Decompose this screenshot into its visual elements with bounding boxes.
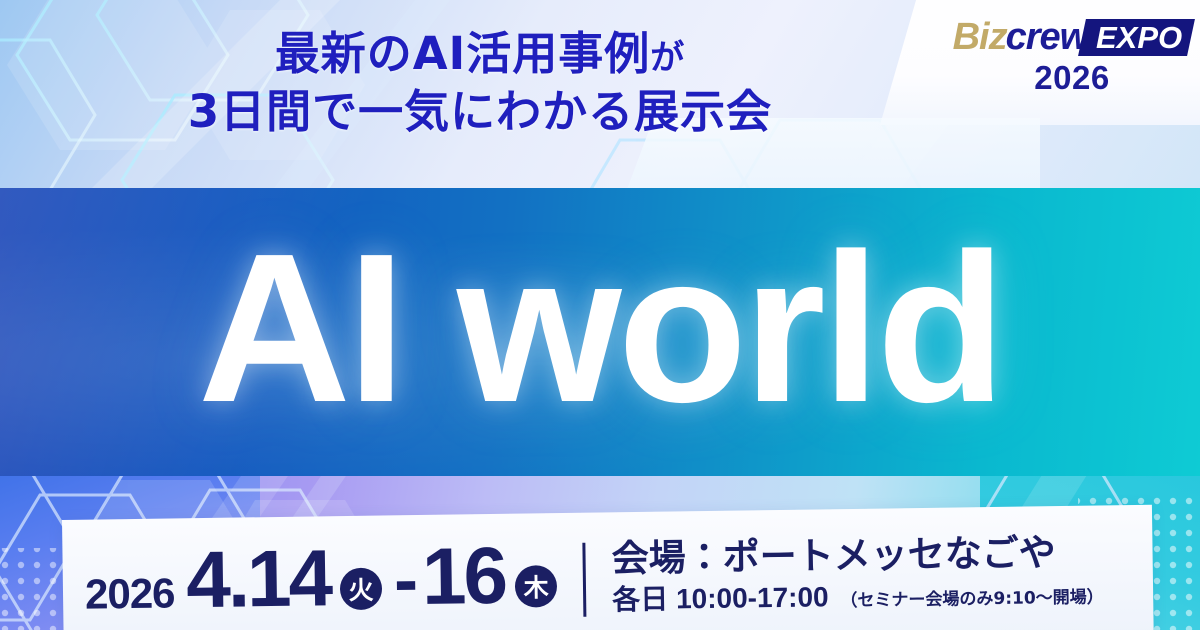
event-banner: Biz crew EXPO 2026 最新のAI活用事例が 3日間で一気にわかる… bbox=[0, 0, 1200, 630]
event-end-date: 16 bbox=[421, 538, 505, 615]
headline-line-2: 3日間で一気にわかる展示会 bbox=[0, 86, 960, 138]
venue-hours-note: （セミナー会場のみ9:10〜開場） bbox=[840, 587, 1104, 611]
headline-line-1-suffix: が bbox=[650, 38, 685, 78]
headline-line-1-main: 最新のAI活用事例 bbox=[275, 27, 651, 80]
logo-crew-text: crew bbox=[1006, 18, 1089, 56]
venue-hours-row: 各日 10:00-17:00 （セミナー会場のみ9:10〜開場） bbox=[612, 579, 1104, 614]
headline-line-1: 最新のAI活用事例が bbox=[0, 28, 960, 80]
venue-hours-value: 10:00-17:00 bbox=[676, 581, 829, 614]
logo-wordmark: Biz crew EXPO bbox=[962, 18, 1182, 56]
section-divider bbox=[582, 543, 586, 617]
event-end-dayofweek-badge: 木 bbox=[515, 565, 558, 608]
headline: 最新のAI活用事例が 3日間で一気にわかる展示会 bbox=[0, 28, 960, 138]
venue-info: 会場：ポートメッセなごや 各日 10:00-17:00 （セミナー会場のみ9:1… bbox=[611, 505, 1104, 614]
logo-year-text: 2026 bbox=[962, 59, 1182, 97]
main-title-text: AI world bbox=[0, 188, 1200, 476]
logo-expo-badge: EXPO bbox=[1078, 19, 1195, 56]
venue-name: 会場：ポートメッセなごや bbox=[611, 533, 1103, 579]
event-date: 2026 4.14 火 - 16 木 bbox=[62, 513, 558, 626]
event-date-dash: - bbox=[393, 539, 416, 621]
logo-biz-text: Biz bbox=[953, 18, 1007, 56]
event-start-dayofweek-badge: 火 bbox=[340, 568, 383, 611]
main-title-band: AI world bbox=[0, 188, 1200, 476]
bizcrew-expo-logo: Biz crew EXPO 2026 bbox=[962, 18, 1182, 97]
event-year: 2026 bbox=[85, 569, 175, 618]
logo-expo-text: EXPO bbox=[1096, 22, 1182, 53]
event-start-date: 4.14 bbox=[186, 540, 331, 618]
venue-hours-label: 各日 bbox=[612, 583, 668, 615]
info-panel: 2026 4.14 火 - 16 木 会場：ポートメッセなごや 各日 10:00… bbox=[62, 505, 1154, 630]
